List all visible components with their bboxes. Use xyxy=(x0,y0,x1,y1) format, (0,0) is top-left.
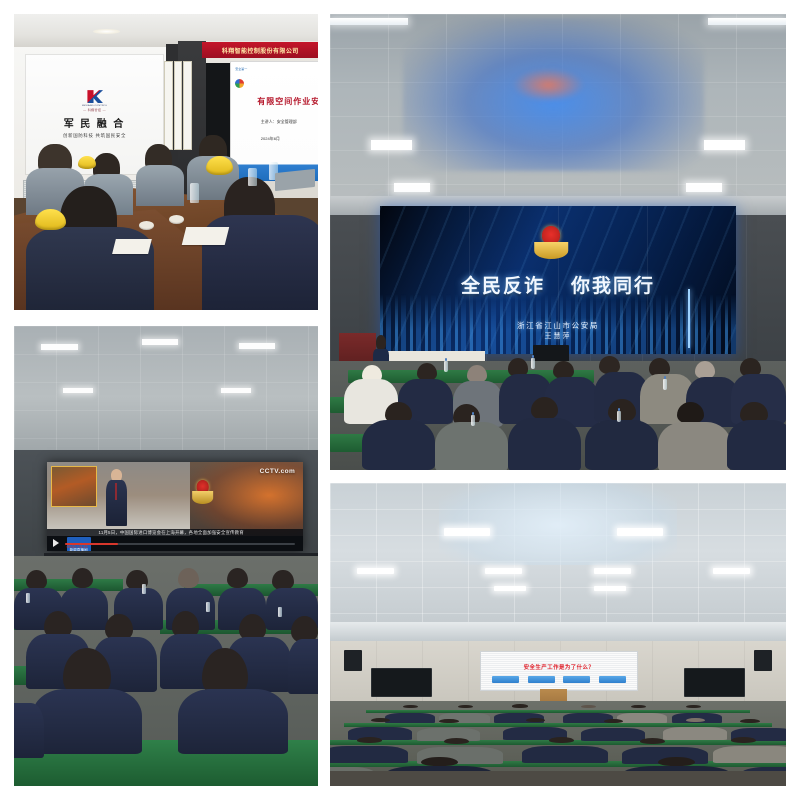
safety-helmet-icon xyxy=(206,156,233,175)
photo-meeting-room[interactable]: KEXIANG CONTROL — 科翔智控 — 军 民 融 合 创新国防科技 … xyxy=(14,14,318,310)
floor xyxy=(330,771,786,786)
audience-head xyxy=(581,705,597,708)
news-anchor xyxy=(106,469,126,526)
water-bottle xyxy=(617,411,621,422)
slide-header: 安全第一 xyxy=(235,67,247,71)
audience-body xyxy=(727,420,786,470)
certificate xyxy=(164,61,172,150)
water-bottle xyxy=(206,602,210,612)
red-banner-text: 科翔智能控制股份有限公司 xyxy=(222,46,299,55)
projection-box xyxy=(492,676,519,684)
poster-logo-cn: — 科翔智控 — xyxy=(83,108,106,112)
slide-logo-icon xyxy=(235,79,244,88)
news-ticker-text: 11月5日，中国国际进口博览会在上海开幕，各地全面加强安全宣传教育 xyxy=(47,530,243,536)
tower-graphic xyxy=(688,289,690,348)
audience-head xyxy=(604,719,623,723)
water-bottle xyxy=(248,168,257,186)
audience-body xyxy=(663,727,727,740)
certificate xyxy=(183,61,191,150)
water-bottle xyxy=(663,379,667,390)
ceiling-lamp xyxy=(239,343,275,349)
emblem-wings xyxy=(192,491,214,504)
video-content: CCTV.com xyxy=(47,462,302,536)
ceiling-lamp xyxy=(221,388,251,393)
audience-head xyxy=(357,737,382,743)
ceiling-lamp xyxy=(686,183,722,193)
photo-bright-hall[interactable]: 安全生产工作是为了什么？ xyxy=(330,483,786,786)
ceiling-cove xyxy=(330,622,786,640)
ceiling-lamp xyxy=(142,339,178,345)
audience-body xyxy=(581,728,645,741)
audience-head xyxy=(458,705,474,708)
water-bottle xyxy=(142,584,146,594)
audience-head xyxy=(403,705,419,708)
audience-head xyxy=(631,705,647,708)
poster-subhead: 创新国防科技 共筑国民安全 xyxy=(63,133,126,139)
side-monitor-left xyxy=(371,668,432,697)
photo-hall-led[interactable]: 全民反诈 你我同行 浙江省江山市公安局 王慧萍 xyxy=(330,14,786,470)
water-bottle xyxy=(471,415,475,426)
certificate xyxy=(174,61,182,150)
ceiling-lamp xyxy=(617,528,663,536)
video-wall-screen[interactable]: CCTV.com 11月5日，中国国际进口博览会在上海开幕，各地全面加强安全宣传… xyxy=(47,462,302,552)
progress-bar[interactable] xyxy=(65,543,295,545)
slide-line-1: 主讲人：安全管理部 xyxy=(261,119,297,125)
cup xyxy=(139,221,154,230)
ceiling-lamp xyxy=(485,568,521,574)
audience-head xyxy=(227,568,248,589)
audience-body-foreground xyxy=(178,689,287,753)
poster-headline: 军 民 融 合 xyxy=(64,115,126,130)
led-reflection-warm xyxy=(512,68,585,102)
safety-helmet-icon xyxy=(78,156,96,169)
ceiling-lamp xyxy=(713,568,749,574)
audience-body xyxy=(585,420,658,470)
led-title: 全民反诈 你我同行 xyxy=(461,271,655,298)
audience-body xyxy=(435,422,508,470)
projection-box xyxy=(563,676,590,684)
company-logo-icon xyxy=(86,90,103,103)
led-presenter-name: 王慧萍 xyxy=(517,331,599,341)
emblem-wings xyxy=(534,242,568,259)
anchor-tie xyxy=(115,483,117,500)
ceiling xyxy=(330,14,786,206)
police-emblem-icon xyxy=(192,475,214,506)
audience-head xyxy=(531,397,558,420)
audience-body xyxy=(658,422,731,470)
ceiling-light-strip xyxy=(330,18,408,26)
projection-box xyxy=(528,676,555,684)
audience-body xyxy=(508,418,581,470)
water-bottle xyxy=(278,607,282,617)
water-bottle xyxy=(531,358,535,369)
audience-head xyxy=(72,568,93,589)
water-bottle xyxy=(26,593,30,603)
audience-body xyxy=(288,639,318,694)
photo-collage: KEXIANG CONTROL — 科翔智控 — 军 民 融 合 创新国防科技 … xyxy=(0,0,800,800)
side-monitor-right xyxy=(684,668,745,697)
audience-head xyxy=(439,719,458,723)
ceiling-lamp xyxy=(444,528,490,536)
audience-body xyxy=(522,746,609,763)
ceiling-light-strip xyxy=(708,18,786,26)
audience-head xyxy=(549,737,574,743)
audience-head xyxy=(677,402,704,425)
cctv-watermark: CCTV.com xyxy=(260,468,295,475)
video-inset-clip xyxy=(51,466,96,507)
led-video-wall: 全民反诈 你我同行 浙江省江山市公安局 王慧萍 xyxy=(380,206,736,354)
poster-logo-en: KEXIANG CONTROL xyxy=(82,104,107,107)
wall-speaker xyxy=(754,650,772,671)
audience-head xyxy=(740,719,759,723)
ceiling xyxy=(14,326,318,455)
photo-video-wall[interactable]: CCTV.com 11月5日，中国国际进口博览会在上海开幕，各地全面加强安全宣传… xyxy=(14,326,318,786)
led-title-left: 全民反诈 xyxy=(461,271,545,298)
audience-head xyxy=(686,705,702,708)
ceiling-lamp xyxy=(704,140,745,150)
audience-body xyxy=(385,713,435,723)
audience-body xyxy=(330,746,408,763)
ceiling xyxy=(330,483,786,635)
document-sheet xyxy=(182,227,229,245)
water-bottle xyxy=(190,183,199,204)
person-seated xyxy=(136,165,185,206)
audience-body-foreground xyxy=(14,703,44,758)
led-org-name: 浙江省江山市公安局 xyxy=(517,320,599,331)
ceiling-lamp xyxy=(41,344,77,350)
play-icon[interactable] xyxy=(53,539,59,547)
ceiling-lamp xyxy=(394,183,430,193)
projection-box xyxy=(599,676,626,684)
safety-helmet-icon xyxy=(35,209,65,230)
news-ticker: 11月5日，中国国际进口博览会在上海开幕，各地全面加强安全宣传教育 xyxy=(47,529,302,536)
slide-title: 有限空间作业安全培训 xyxy=(257,96,318,107)
ceiling-lamp xyxy=(594,568,630,574)
red-banner: 科翔智能控制股份有限公司 xyxy=(202,42,318,58)
video-player-controls[interactable]: 新闻直播间 00:00 / 01:43 xyxy=(47,536,302,551)
audience-body xyxy=(362,420,435,470)
projection-boxes xyxy=(492,676,625,684)
certificate-frames xyxy=(164,61,191,150)
projection-title: 安全生产工作是为了什么？ xyxy=(524,663,595,671)
audience-head xyxy=(731,737,756,743)
led-title-right: 你我同行 xyxy=(571,271,655,298)
ceiling-lamp xyxy=(357,568,393,574)
audience-body xyxy=(617,713,667,723)
progress-fill xyxy=(65,543,118,545)
audience-head xyxy=(444,738,469,744)
ceiling-center-panel xyxy=(439,483,676,565)
audience-body xyxy=(713,746,786,763)
ceiling-lamp xyxy=(371,140,412,150)
video-timestamp: 00:00 / 01:43 xyxy=(67,545,88,549)
wall-speaker xyxy=(344,650,362,671)
ceiling-lamp xyxy=(594,586,626,591)
audience-body-foreground xyxy=(32,689,141,753)
projection-screen: 安全生产工作是为了什么？ xyxy=(480,651,637,691)
water-bottle xyxy=(444,361,448,372)
police-emblem-icon xyxy=(534,219,568,260)
audience-head xyxy=(640,738,665,744)
document-sheet xyxy=(112,239,152,254)
ceiling-lamp xyxy=(63,388,93,393)
slide-line-2: 2024年6月 xyxy=(261,136,280,142)
audience-head xyxy=(608,399,635,422)
led-org-block: 浙江省江山市公安局 王慧萍 xyxy=(517,320,599,341)
audience-head xyxy=(512,704,528,707)
ceiling-lamp xyxy=(494,586,526,591)
